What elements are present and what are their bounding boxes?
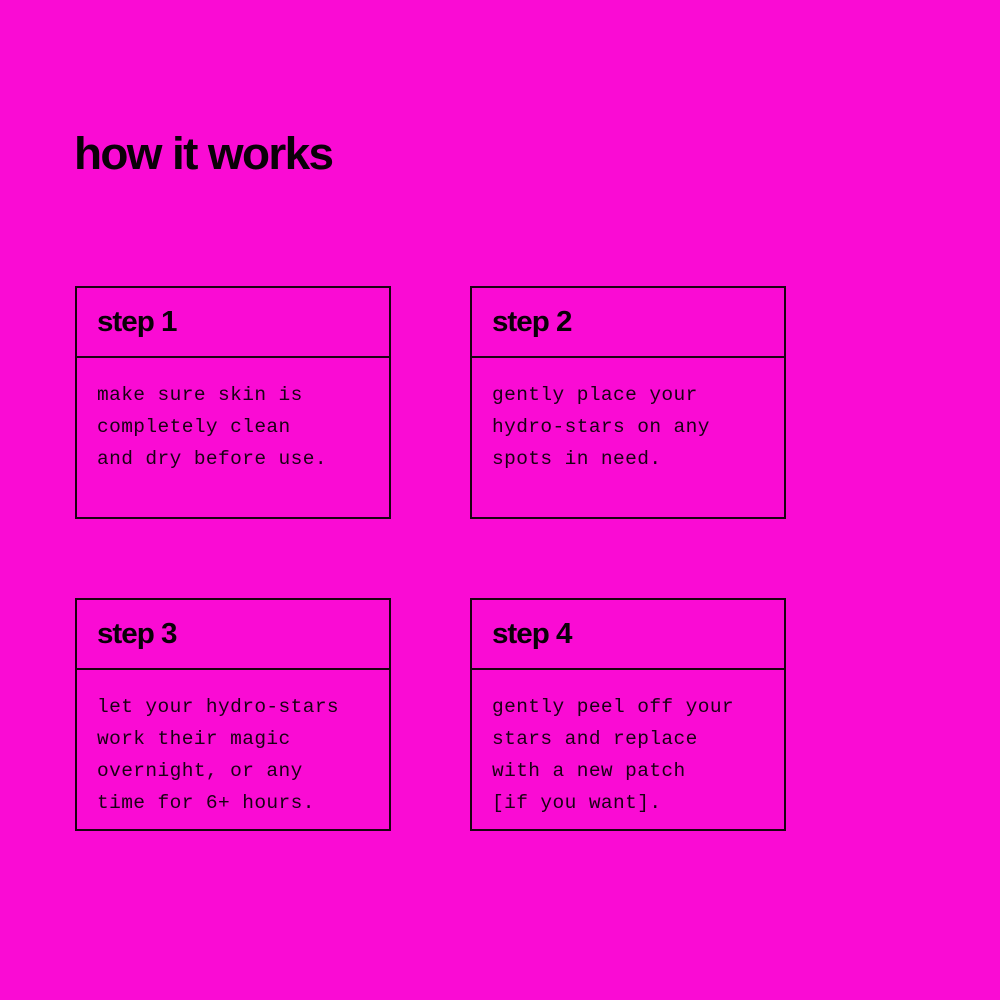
step-card-4-body: gently peel off your stars and replace w… bbox=[472, 670, 784, 829]
step-card-2-text: gently place your hydro-stars on any spo… bbox=[492, 379, 772, 475]
step-card-3: step 3 let your hydro-stars work their m… bbox=[75, 598, 391, 831]
how-it-works-page: how it works step 1 make sure skin is co… bbox=[0, 0, 1000, 1000]
page-title: how it works bbox=[74, 130, 332, 177]
step-card-4-text: gently peel off your stars and replace w… bbox=[492, 691, 772, 819]
step-card-2: step 2 gently place your hydro-stars on … bbox=[470, 286, 786, 519]
step-card-1-text: make sure skin is completely clean and d… bbox=[97, 379, 377, 475]
step-card-2-body: gently place your hydro-stars on any spo… bbox=[472, 358, 784, 517]
step-card-3-header: step 3 bbox=[77, 600, 389, 670]
step-card-1-header: step 1 bbox=[77, 288, 389, 358]
step-card-2-title: step 2 bbox=[492, 308, 571, 337]
step-card-3-text: let your hydro-stars work their magic ov… bbox=[97, 691, 377, 819]
step-card-1: step 1 make sure skin is completely clea… bbox=[75, 286, 391, 519]
step-card-4-title: step 4 bbox=[492, 620, 571, 649]
step-card-1-body: make sure skin is completely clean and d… bbox=[77, 358, 389, 517]
step-card-4-header: step 4 bbox=[472, 600, 784, 670]
steps-grid: step 1 make sure skin is completely clea… bbox=[75, 286, 786, 831]
step-card-3-title: step 3 bbox=[97, 620, 176, 649]
step-card-2-header: step 2 bbox=[472, 288, 784, 358]
step-card-3-body: let your hydro-stars work their magic ov… bbox=[77, 670, 389, 829]
step-card-1-title: step 1 bbox=[97, 308, 176, 337]
step-card-4: step 4 gently peel off your stars and re… bbox=[470, 598, 786, 831]
